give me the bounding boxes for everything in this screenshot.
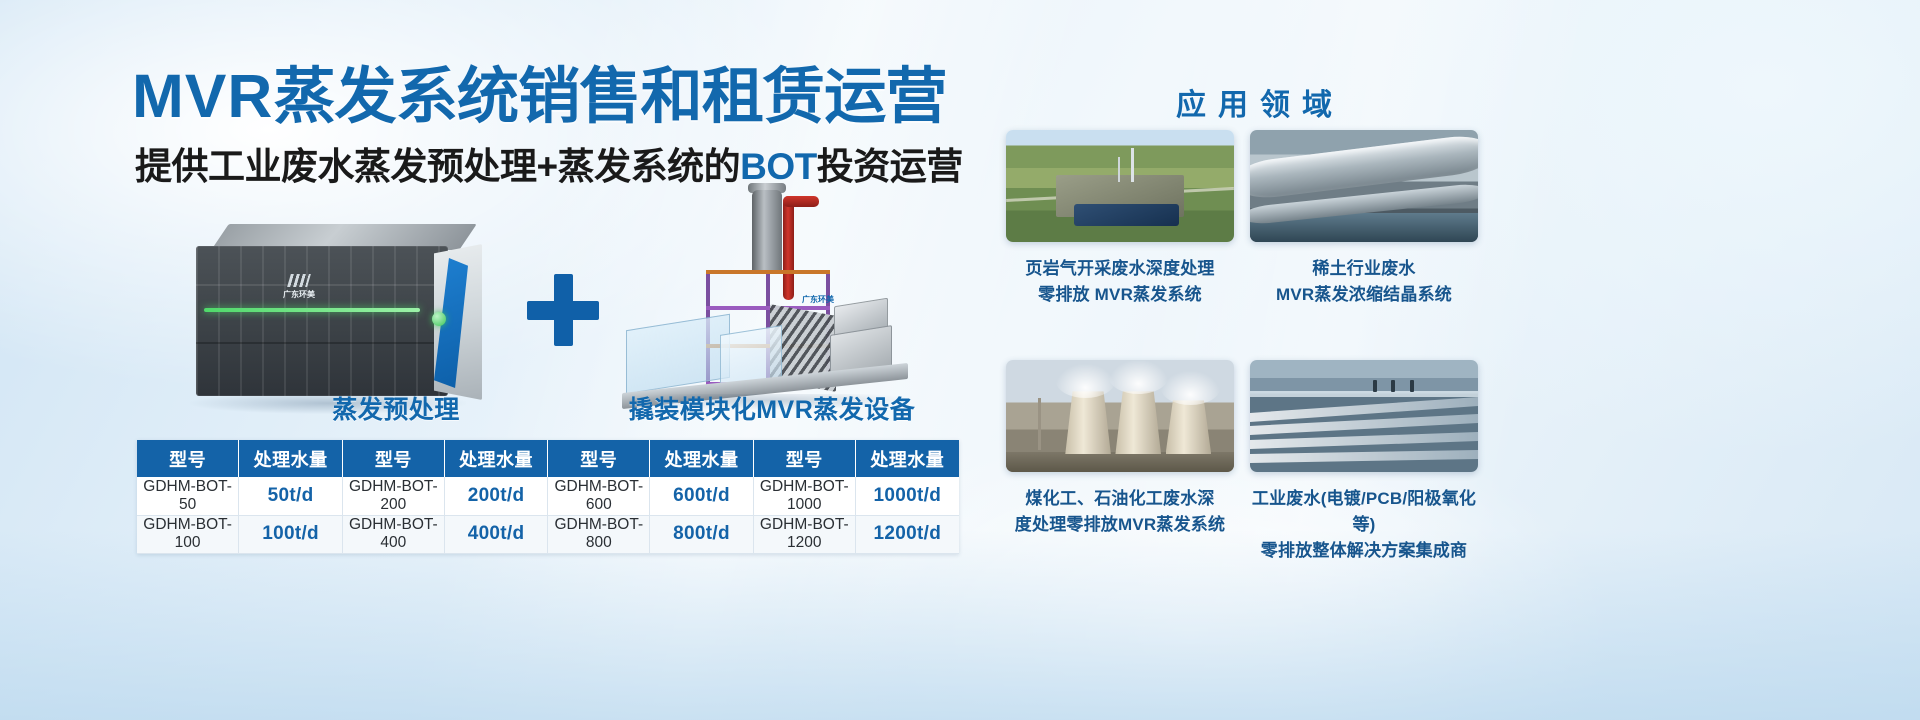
product-caption-pretreatment: 蒸发预处理: [296, 390, 496, 426]
spec-header-capacity-4: 处理水量: [855, 440, 959, 477]
application-label-line-1: 煤化工、石油化工废水深: [1006, 486, 1234, 512]
spec-header-model-3: 型号: [548, 440, 650, 477]
wastewater-treatment-basin-photo-icon: [1250, 360, 1478, 472]
steam-plume: [1109, 360, 1168, 394]
spec-cell-capacity: 50t/d: [239, 477, 343, 515]
application-thumbnail: [1250, 130, 1478, 242]
spec-cell-capacity: 600t/d: [650, 477, 754, 515]
status-light-strip: [204, 308, 420, 312]
spec-cell-model: GDHM-BOT-600: [548, 477, 650, 515]
spec-cell-model: GDHM-BOT-1000: [753, 477, 855, 515]
cooling-tower: [1166, 400, 1212, 454]
industrial-pipeline-photo-icon: [1250, 130, 1478, 242]
frame-beam-upper-mid: [706, 306, 830, 310]
spec-cell-capacity: 1000t/d: [855, 477, 959, 515]
application-thumbnail: [1006, 130, 1234, 242]
page-subtitle: 提供工业废水蒸发预处理+蒸发系统的BOT投资运营: [135, 148, 963, 185]
brand-logo-pretreatment: 广东环美: [262, 274, 336, 300]
application-card-label: 工业废水(电镀/PCB/阳极氧化等) 零排放整体解决方案集成商: [1250, 486, 1478, 563]
subtitle-part-1: 提供工业废水蒸发预处理+蒸发系统的: [135, 146, 740, 187]
brand-mark-icon: [287, 274, 311, 287]
application-label-line-1: 工业废水(电镀/PCB/阳极氧化等): [1250, 486, 1478, 538]
application-card-label: 煤化工、石油化工废水深 度处理零排放MVR蒸发系统: [1006, 486, 1234, 538]
container-body: 广东环美: [196, 246, 448, 396]
application-card-shale-gas: 页岩气开采废水深度处理 零排放 MVR蒸发系统: [1006, 130, 1234, 308]
page-title-cn: 蒸发系统销售和租赁运营: [273, 62, 946, 130]
application-label-line-1: 稀土行业废水: [1250, 256, 1478, 282]
drilling-rig: [1131, 148, 1134, 182]
shale-gas-wellpad-photo-icon: [1006, 130, 1234, 242]
spec-cell-model: GDHM-BOT-200: [342, 477, 444, 515]
spec-header-capacity-2: 处理水量: [444, 440, 548, 477]
coal-chemical-plant-photo-icon: [1006, 360, 1234, 472]
spec-header-capacity-3: 处理水量: [650, 440, 754, 477]
spec-cell-model: GDHM-BOT-100: [137, 515, 239, 553]
container-ribs: [196, 246, 448, 396]
plus-icon-vertical-bar: [554, 274, 573, 346]
page-title-latin: MVR: [132, 62, 273, 130]
spec-header-model-1: 型号: [137, 440, 239, 477]
product-caption-mvr-skid: 撬装模块化MVR蒸发设备: [592, 390, 952, 426]
indicator-led-icon: [432, 312, 446, 326]
aeration-lane: [1250, 431, 1478, 450]
spec-cell-capacity: 200t/d: [444, 477, 548, 515]
spec-cell-model: GDHM-BOT-400: [342, 515, 444, 553]
subtitle-highlight-bot: BOT: [740, 146, 817, 187]
spec-cell-model: GDHM-BOT-800: [548, 515, 650, 553]
application-card-label: 稀土行业废水 MVR蒸发浓缩结晶系统: [1250, 256, 1478, 308]
cooling-tower: [1065, 391, 1111, 454]
applications-heading: 应用领域: [1000, 80, 1520, 124]
application-card-label: 页岩气开采废水深度处理 零排放 MVR蒸发系统: [1006, 256, 1234, 308]
red-pipe-horizontal: [783, 196, 819, 207]
spec-cell-capacity: 800t/d: [650, 515, 754, 553]
application-label-line-2: 度处理零排放MVR蒸发系统: [1006, 512, 1234, 538]
application-label-line-2: 零排放整体解决方案集成商: [1250, 538, 1478, 564]
applications-right-column: 应用领域 页岩气开采废水深度处理 零排放 MVR蒸发系统: [1000, 0, 1920, 720]
aeration-lane: [1250, 449, 1478, 463]
steam-plume: [1161, 371, 1220, 405]
retention-pond: [1074, 204, 1179, 226]
brand-logo-text: 广东环美: [283, 290, 315, 299]
promo-banner: MVR蒸发系统销售和租赁运营 提供工业废水蒸发预处理+蒸发系统的BOT投资运营 …: [0, 0, 1920, 720]
worker-figure: [1410, 380, 1414, 392]
spec-cell-model: GDHM-BOT-50: [137, 477, 239, 515]
spec-header-model-4: 型号: [753, 440, 855, 477]
brand-badge-mvr-skid: 广东环美: [802, 294, 834, 305]
product-image-mvr-skid: 广东环美: [620, 190, 920, 420]
steam-plume: [1056, 364, 1115, 398]
spec-cell-model: GDHM-BOT-1200: [753, 515, 855, 553]
frame-beam-top: [706, 270, 830, 274]
spec-table: 型号 处理水量 型号 处理水量 型号 处理水量 型号 处理水量 GDHM-BOT…: [137, 440, 959, 554]
smoke-stack: [1038, 398, 1041, 450]
spec-header-capacity-1: 处理水量: [239, 440, 343, 477]
cooling-tower: [1115, 391, 1161, 454]
worker-figure: [1373, 380, 1377, 392]
application-thumbnail: [1250, 360, 1478, 472]
application-label-line-2: MVR蒸发浓缩结晶系统: [1250, 282, 1478, 308]
application-card-industrial-wastewater: 工业废水(电镀/PCB/阳极氧化等) 零排放整体解决方案集成商: [1250, 360, 1478, 563]
plant-ground: [1006, 452, 1234, 472]
application-label-line-1: 页岩气开采废水深度处理: [1006, 256, 1234, 282]
spec-header-model-2: 型号: [342, 440, 444, 477]
plus-icon: [527, 274, 599, 346]
container-seam-lower: [196, 342, 448, 344]
spec-table-header-row: 型号 处理水量 型号 处理水量 型号 处理水量 型号 处理水量: [137, 440, 959, 477]
spec-cell-capacity: 100t/d: [239, 515, 343, 553]
worker-figure: [1391, 380, 1395, 392]
spec-cell-capacity: 400t/d: [444, 515, 548, 553]
table-row: GDHM-BOT-100 100t/d GDHM-BOT-400 400t/d …: [137, 515, 959, 553]
basin-wall: [1250, 391, 1478, 397]
table-row: GDHM-BOT-50 50t/d GDHM-BOT-200 200t/d GD…: [137, 477, 959, 515]
application-card-coal-chemical: 煤化工、石油化工废水深 度处理零排放MVR蒸发系统: [1006, 360, 1234, 538]
drilling-rig-secondary: [1118, 157, 1120, 182]
application-label-line-2: 零排放 MVR蒸发系统: [1006, 282, 1234, 308]
application-thumbnail: [1006, 360, 1234, 472]
page-title: MVR蒸发系统销售和租赁运营: [132, 66, 947, 127]
application-card-rare-earth: 稀土行业废水 MVR蒸发浓缩结晶系统: [1250, 130, 1478, 308]
evaporator-tank: [752, 190, 782, 274]
hero-left-column: MVR蒸发系统销售和租赁运营 提供工业废水蒸发预处理+蒸发系统的BOT投资运营 …: [0, 0, 1000, 720]
subtitle-part-2: 投资运营: [817, 146, 963, 187]
spec-cell-capacity: 1200t/d: [855, 515, 959, 553]
